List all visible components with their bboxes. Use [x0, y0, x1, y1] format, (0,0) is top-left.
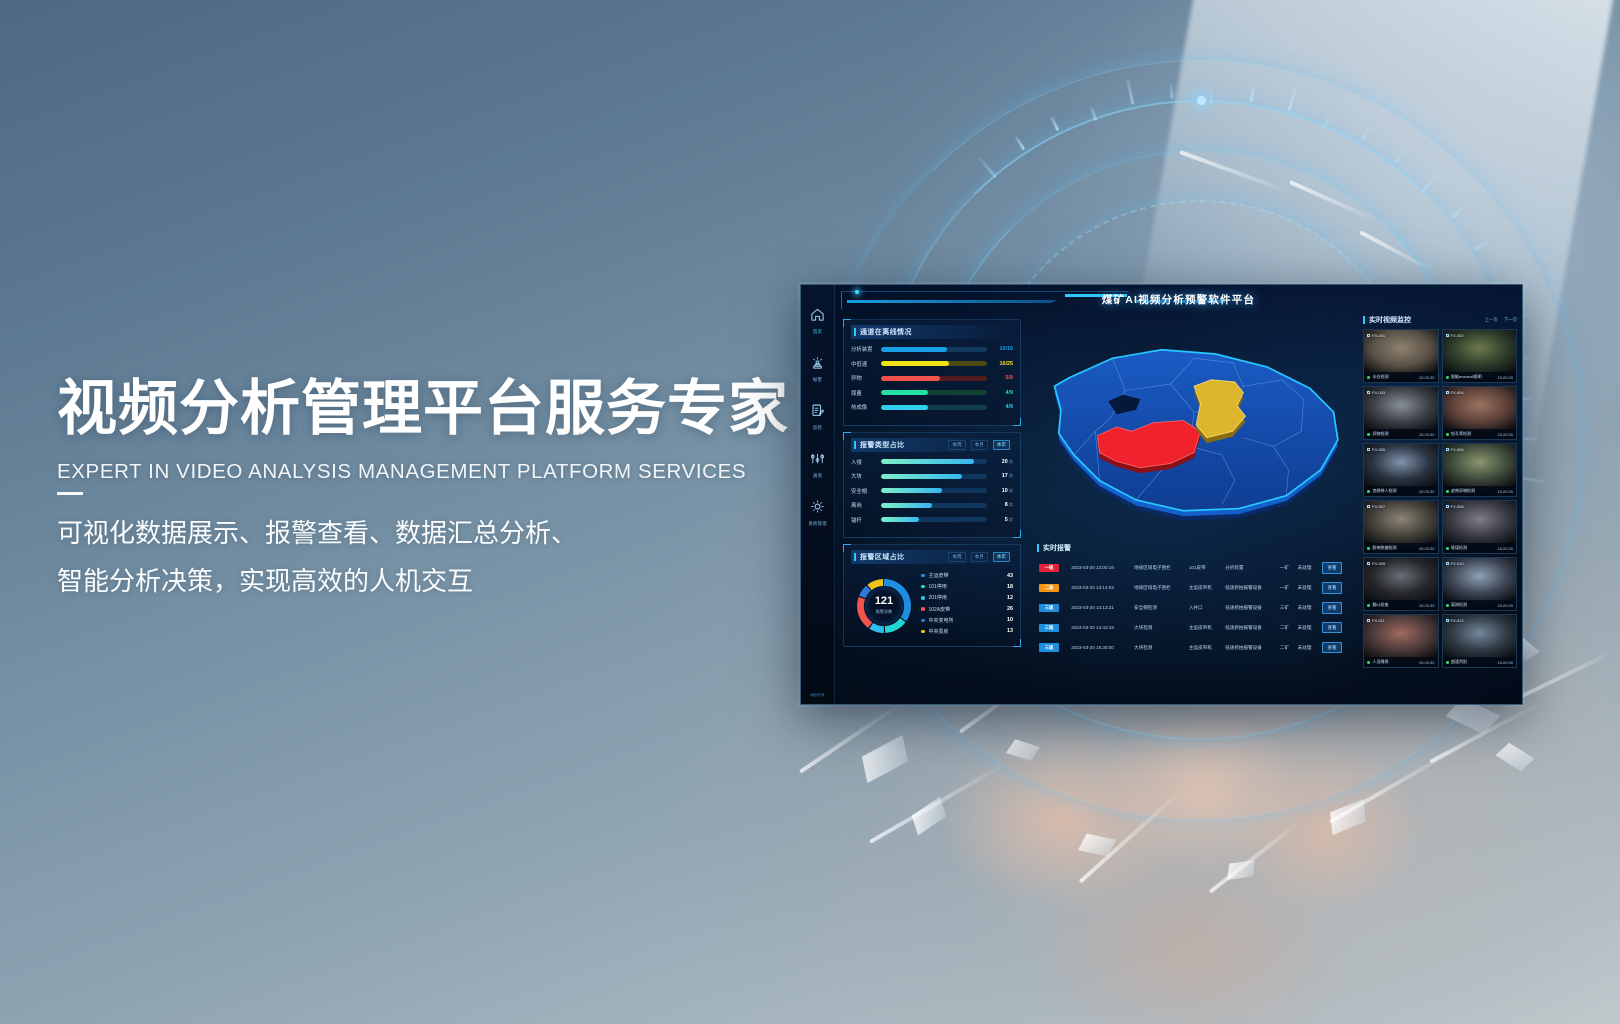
decorative-shard: [1078, 834, 1116, 857]
sidebar-item-label: 通道: [813, 473, 822, 479]
cell-level: 一级: [1037, 558, 1069, 578]
decorative-shard: [1330, 799, 1366, 835]
camera-name: 智能ической照明: [1446, 374, 1482, 380]
online-indicator: [1367, 661, 1370, 664]
row-value: 5/9: [987, 375, 1013, 381]
view-button[interactable]: 查看: [1322, 602, 1343, 613]
table-row: 一级2023-03-20 13:00:16地磅区域电子围栏101皮带分析装置一矿…: [1037, 558, 1353, 578]
decorative-streak: [1329, 745, 1461, 823]
cell-mine: 二矿: [1278, 638, 1296, 658]
prev-page-button[interactable]: 上一页: [1485, 317, 1498, 323]
video-caption: 离岗检测15:20:30: [1443, 600, 1517, 610]
decorative-streak: [1179, 150, 1284, 191]
video-tile[interactable]: FX-002智能ической照明15:20:30: [1442, 329, 1518, 383]
cell-type: 地磅区域电子围栏: [1132, 558, 1187, 578]
cell-level: 三级: [1037, 598, 1069, 618]
cell-time: 2023-03-20 13:14:03: [1069, 578, 1132, 598]
row-label: 煤量: [851, 389, 881, 397]
progress-track: [881, 347, 987, 352]
video-caption: 异物检测15:20:30: [1364, 429, 1438, 439]
row-label: 安全帽: [851, 487, 881, 495]
donut-legend: 主运皮带43101停用18201停用12102A皮带26中央变电所10中央泵房1…: [921, 572, 1013, 639]
online-indicator: [1367, 490, 1370, 493]
row-value: 10次: [987, 488, 1013, 494]
cell-status: 未处理: [1296, 618, 1320, 638]
decorative-shard: [1006, 739, 1040, 761]
video-panel-title: 实时视频监控: [1369, 315, 1411, 325]
progress-fill: [881, 361, 949, 366]
progress-fill: [881, 405, 928, 410]
cell-area: 入井口: [1187, 598, 1223, 618]
progress-track: [881, 488, 987, 493]
hero-desc-line-2: 智能分析决策，实现高效的人机交互: [57, 557, 817, 605]
cell-action: 查看: [1320, 598, 1353, 618]
camera-icon: [1446, 448, 1449, 451]
ring-tick: [1169, 84, 1173, 99]
online-indicator: [1446, 661, 1449, 664]
video-tile[interactable]: FX-010离岗检测15:20:30: [1442, 557, 1518, 611]
panel-header: 报警区域占比 本周本月本年: [851, 550, 1013, 564]
dashboard-title: 煤矿AI视频分析预警软件平台: [835, 292, 1522, 307]
row-label: 大块: [851, 472, 881, 480]
row-value: 8次: [987, 502, 1013, 508]
row-label: 离岗: [851, 501, 881, 509]
progress-track: [881, 517, 987, 522]
row-unit: 次: [1009, 517, 1013, 522]
online-indicator: [1446, 604, 1449, 607]
alarm-table: 一级2023-03-20 13:00:16地磅区域电子围栏101皮带分析装置一矿…: [1037, 558, 1353, 658]
camera-id: FX-009: [1367, 561, 1385, 566]
camera-icon: [1446, 391, 1449, 394]
cell-level: 三级: [1037, 618, 1069, 638]
camera-name: 离岗检测: [1446, 602, 1468, 608]
map-svg: [1033, 313, 1355, 541]
legend-color-dot: [921, 585, 925, 589]
decorative-shard: [912, 797, 947, 836]
sidebar-item-4[interactable]: 系统管理: [801, 499, 834, 527]
alarm-icon: [810, 355, 825, 375]
camera-name: 水仓检测: [1367, 374, 1389, 380]
cell-status: 未处理: [1296, 598, 1320, 618]
online-indicator: [1446, 490, 1449, 493]
camera-time: 15:20:30: [1419, 603, 1435, 608]
home-icon: [810, 307, 825, 327]
dashboard-screen: 首页报警巡检通道系统管理 版权所有 煤矿AI视频分析预警软件平台 通道在离线情况…: [801, 285, 1522, 704]
status-badge: 三级: [1039, 643, 1059, 652]
legend-color-dot: [921, 607, 925, 611]
alarm-table-title: 实时报警: [1043, 543, 1071, 553]
channel-status-row: 分析装置10/16: [851, 345, 1013, 353]
legend-label: 101停用: [929, 583, 1008, 590]
sidebar-item-1[interactable]: 报警: [801, 355, 834, 383]
donut-legend-item: 中央泵房13: [921, 628, 1013, 635]
alarm-type-row: 安全帽10次: [851, 487, 1013, 495]
next-page-button[interactable]: 下一页: [1504, 317, 1517, 323]
row-value: 16/25: [987, 361, 1013, 367]
legend-value: 26: [1007, 606, 1013, 612]
ring-tick: [1050, 116, 1059, 131]
channel-status-row: 异物5/9: [851, 374, 1013, 382]
row-unit: 次: [1009, 473, 1013, 478]
hero-subtitle-en: EXPERT IN VIDEO ANALYSIS MANAGEMENT PLAT…: [57, 460, 817, 484]
tab-本周[interactable]: 本周: [948, 440, 965, 450]
legend-value: 43: [1007, 573, 1013, 579]
row-value: 17次: [987, 473, 1013, 479]
title-accent-bar: [1363, 316, 1365, 324]
ring-tick: [978, 157, 997, 179]
decorative-shard: [1227, 860, 1255, 880]
video-caption: 超速判别15:20:30: [1443, 657, 1517, 667]
cell-level: 二级: [1037, 578, 1069, 598]
video-panel-header: 实时视频监控 上一页 下一页: [1363, 315, 1517, 325]
camera-name: 胶带跑偏检测: [1367, 545, 1397, 551]
ring-tick: [1249, 86, 1254, 101]
progress-fill: [881, 474, 962, 479]
legend-value: 10: [1007, 617, 1013, 623]
center-column: 实时报警 一级2023-03-20 13:00:16地磅区域电子围栏101皮带分…: [1027, 285, 1359, 704]
sidebar-item-2[interactable]: 巡检: [801, 403, 834, 431]
video-caption: 钻孔等检测15:20:30: [1443, 429, 1517, 439]
video-caption: 水仓检测15:20:30: [1364, 372, 1438, 382]
cell-time: 2023-03-20 13:00:16: [1069, 558, 1132, 578]
donut-legend-item: 101停用18: [921, 583, 1013, 590]
hero-copy: 视频分析管理平台服务专家 EXPERT IN VIDEO ANALYSIS MA…: [57, 375, 817, 605]
online-indicator: [1446, 376, 1449, 379]
alarm-type-tab-group[interactable]: 本周本月本年: [948, 440, 1010, 450]
title-accent-bar: [854, 441, 856, 449]
cell-time: 2023-03-20 14:13:21: [1069, 598, 1132, 618]
camera-id: FX-001: [1367, 333, 1385, 338]
video-tile[interactable]: FX-006皮带异物检测15:20:30: [1442, 443, 1518, 497]
camera-time: 15:20:30: [1497, 489, 1513, 494]
row-label: 异物: [851, 374, 881, 382]
dashboard-header: 煤矿AI视频分析预警软件平台: [835, 285, 1522, 315]
row-label: 锚杆: [851, 516, 881, 524]
cell-type: 大块检测: [1132, 638, 1187, 658]
alarm-area-donut-chart: 121 报警次数: [853, 575, 915, 637]
camera-name: 翻斗检查: [1367, 602, 1389, 608]
cell-status: 未处理: [1296, 638, 1320, 658]
decorative-streak: [1429, 704, 1537, 764]
decorative-shard: [1495, 743, 1534, 771]
camera-id: FX-007: [1367, 504, 1385, 509]
camera-id: FX-005: [1367, 447, 1385, 452]
cell-action: 查看: [1320, 558, 1353, 578]
sidebar-item-0[interactable]: 首页: [801, 307, 834, 335]
tab-本月[interactable]: 本月: [971, 440, 988, 450]
row-value: 5次: [987, 517, 1013, 523]
channel-status-row: 中低速16/25: [851, 360, 1013, 368]
legend-value: 13: [1007, 628, 1013, 634]
camera-name: 超速判别: [1446, 659, 1468, 665]
progress-track: [881, 503, 987, 508]
panel-header: 通道在离线情况: [851, 325, 1013, 339]
legend-label: 主运皮带: [929, 572, 1008, 579]
alarm-type-row: 入侵20次: [851, 458, 1013, 466]
video-caption: 违规带人检测15:20:30: [1364, 486, 1438, 496]
cell-time: 2023-03-20 14:43:18: [1069, 618, 1132, 638]
sidebar-item-3[interactable]: 通道: [801, 451, 834, 479]
camera-icon: [1446, 334, 1449, 337]
panel-title: 通道在离线情况: [860, 327, 912, 337]
cell-action: 查看: [1320, 618, 1353, 638]
camera-id: FX-006: [1446, 447, 1464, 452]
ring-tick: [1210, 89, 1214, 104]
gear-icon: [810, 499, 825, 519]
decorative-streak: [1289, 180, 1373, 220]
ring-tick: [1323, 114, 1332, 129]
sidebar-item-label: 首页: [813, 329, 822, 335]
row-value: 20次: [987, 459, 1013, 465]
row-value: 10/16: [987, 346, 1013, 352]
video-tile[interactable]: FX-009翻斗检查15:20:30: [1363, 557, 1439, 611]
video-caption: 皮带异物检测15:20:30: [1443, 486, 1517, 496]
camera-name: 钻孔等检测: [1446, 431, 1472, 437]
cell-device: 低速抓拍报警设备: [1223, 578, 1278, 598]
video-panel: 实时视频监控 上一页 下一页 FX-001水仓检测15:20:30FX-002智…: [1359, 285, 1522, 704]
camera-id: FX-011: [1367, 618, 1385, 623]
tab-本年[interactable]: 本年: [993, 552, 1010, 562]
online-indicator: [1367, 604, 1370, 607]
panel-header: 报警类型占比 本周本月本年: [851, 438, 1013, 452]
status-badge: 三级: [1039, 604, 1059, 613]
table-row: 三级2023-03-20 14:43:18大块检测主运皮带机低速抓拍报警设备二矿…: [1037, 618, 1353, 638]
progress-track: [881, 376, 987, 381]
alarm-area-tab-group[interactable]: 本周本月本年: [948, 552, 1010, 562]
panel-channel-status: 通道在离线情况 分析装置10/16中低速16/25异物5/9煤量4/9热成像4/…: [843, 319, 1021, 426]
donut-legend-item: 主运皮带43: [921, 572, 1013, 579]
camera-id: FX-012: [1446, 618, 1464, 623]
online-indicator: [1446, 547, 1449, 550]
title-accent-bar: [854, 553, 856, 561]
legend-label: 102A皮带: [929, 606, 1008, 613]
camera-id: FX-008: [1446, 504, 1464, 509]
donut-legend-item: 201停用12: [921, 594, 1013, 601]
legend-color-dot: [921, 596, 925, 600]
row-label: 中低速: [851, 360, 881, 368]
ring-tick: [1288, 85, 1298, 111]
decorative-streak: [1509, 652, 1610, 704]
decorative-streak: [1209, 823, 1298, 894]
video-tile[interactable]: FX-003异物检测15:20:30: [1363, 386, 1439, 440]
legend-value: 18: [1007, 584, 1013, 590]
cell-status: 未处理: [1296, 578, 1320, 598]
row-unit: 次: [1009, 488, 1013, 493]
status-badge: 一级: [1039, 564, 1059, 573]
donut-legend-item: 中央变电所10: [921, 617, 1013, 624]
ring-tick: [1126, 79, 1134, 105]
progress-track: [881, 361, 987, 366]
progress-fill: [881, 488, 942, 493]
channel-status-row: 热成像4/9: [851, 403, 1013, 411]
decorative-streak: [1359, 230, 1432, 271]
cell-level: 三级: [1037, 638, 1069, 658]
progress-fill: [881, 347, 947, 352]
tab-本年[interactable]: 本年: [993, 440, 1010, 450]
sidebar-footer: 版权所有: [801, 693, 834, 698]
progress-track: [881, 474, 987, 479]
status-badge: 二级: [1039, 584, 1059, 593]
camera-time: 15:20:30: [1497, 603, 1513, 608]
row-value: 4/9: [987, 390, 1013, 396]
cell-mine: 二矿: [1278, 618, 1296, 638]
cell-area: 101皮带: [1187, 558, 1223, 578]
tab-本周[interactable]: 本周: [948, 552, 965, 562]
row-value: 4/9: [987, 404, 1013, 410]
status-badge: 三级: [1039, 624, 1059, 633]
table-row: 二级2023-03-20 13:14:03地磅区域电子围栏主运皮带机低速抓拍报警…: [1037, 578, 1353, 598]
online-indicator: [1367, 433, 1370, 436]
video-tile[interactable]: FX-008堆煤检测15:20:30: [1442, 500, 1518, 554]
video-tile[interactable]: FX-004钻孔等检测15:20:30: [1442, 386, 1518, 440]
alarm-table-header: 实时报警: [1037, 543, 1353, 553]
legend-color-dot: [921, 630, 925, 634]
alarm-type-row: 离岗8次: [851, 501, 1013, 509]
camera-time: 15:20:30: [1497, 546, 1513, 551]
online-indicator: [1367, 376, 1370, 379]
camera-icon: [1367, 505, 1370, 508]
legend-label: 中央变电所: [929, 617, 1008, 624]
cell-area: 主运皮带机: [1187, 618, 1223, 638]
panel-alarm-type: 报警类型占比 本周本月本年 入侵20次大块17次安全帽10次离岗8次锚杆5次: [843, 432, 1021, 539]
video-tile[interactable]: FX-011人员睡岗15:20:30: [1363, 614, 1439, 668]
region-map[interactable]: [1033, 313, 1355, 541]
table-row: 三级2023-03-20 15:30:00大块检测主运皮带机低速抓拍报警设备二矿…: [1037, 638, 1353, 658]
camera-time: 15:20:30: [1419, 660, 1435, 665]
video-caption: 翻斗检查15:20:30: [1364, 600, 1438, 610]
camera-icon: [1446, 619, 1449, 622]
progress-track: [881, 459, 987, 464]
row-label: 热成像: [851, 403, 881, 411]
ring-tick: [1361, 127, 1371, 141]
row-label: 入侵: [851, 458, 881, 466]
hero-divider: [57, 492, 83, 495]
ring-tick: [1394, 150, 1405, 164]
row-unit: 次: [1009, 502, 1013, 507]
legend-label: 中央泵房: [929, 628, 1008, 635]
progress-fill: [881, 390, 928, 395]
camera-time: 15:20:30: [1419, 546, 1435, 551]
progress-fill: [881, 503, 932, 508]
camera-name: 违规带人检测: [1367, 488, 1397, 494]
camera-name: 人员睡岗: [1367, 659, 1389, 665]
video-caption: 智能ической照明15:20:30: [1443, 372, 1517, 382]
cell-device: 低速抓拍报警设备: [1223, 618, 1278, 638]
cell-device: 低速抓拍报警设备: [1223, 598, 1278, 618]
legend-value: 12: [1007, 595, 1013, 601]
ring-tick: [1451, 207, 1465, 219]
decorative-shard: [862, 735, 908, 783]
progress-fill: [881, 517, 919, 522]
video-caption: 人员睡岗15:20:30: [1364, 657, 1438, 667]
camera-time: 15:20:30: [1497, 660, 1513, 665]
camera-name: 异物检测: [1367, 431, 1389, 437]
progress-fill: [881, 376, 940, 381]
sidebar: 首页报警巡检通道系统管理 版权所有: [801, 285, 835, 704]
video-tile[interactable]: FX-012超速判别15:20:30: [1442, 614, 1518, 668]
camera-icon: [1367, 448, 1370, 451]
decorative-streak: [1079, 794, 1178, 884]
decorative-streak: [799, 703, 901, 773]
cell-mine: 三矿: [1278, 598, 1296, 618]
legend-label: 201停用: [929, 594, 1008, 601]
legend-color-dot: [921, 619, 925, 623]
progress-track: [881, 390, 987, 395]
row-label: 分析装置: [851, 345, 881, 353]
camera-icon: [1367, 334, 1370, 337]
video-grid: FX-001水仓检测15:20:30FX-002智能ической照明15:20…: [1363, 329, 1517, 668]
camera-time: 15:20:30: [1419, 489, 1435, 494]
donut-total: 121: [875, 596, 893, 607]
donut-legend-item: 102A皮带26: [921, 606, 1013, 613]
view-button[interactable]: 查看: [1322, 582, 1343, 593]
tab-本月[interactable]: 本月: [971, 552, 988, 562]
cell-mine: 一矿: [1278, 558, 1296, 578]
progress-fill: [881, 459, 974, 464]
camera-id: FX-004: [1446, 390, 1464, 395]
donut-caption: 报警次数: [876, 609, 893, 615]
video-tile[interactable]: FX-001水仓检测15:20:30: [1363, 329, 1439, 383]
cell-action: 查看: [1320, 638, 1353, 658]
sidebar-item-label: 巡检: [813, 425, 822, 431]
video-tile[interactable]: FX-005违规带人检测15:20:30: [1363, 443, 1439, 497]
channel-status-row: 煤量4/9: [851, 389, 1013, 397]
cell-device: 低速抓拍报警设备: [1223, 638, 1278, 658]
ring-tick: [1014, 136, 1025, 150]
camera-id: FX-010: [1446, 561, 1464, 566]
view-button[interactable]: 查看: [1322, 622, 1343, 633]
camera-name: 皮带异物检测: [1446, 488, 1476, 494]
view-button[interactable]: 查看: [1322, 642, 1343, 653]
panel-alarm-area: 报警区域占比 本周本月本年 121 报警次数 主运皮带43101停用18201停…: [843, 544, 1021, 647]
ring-glow-dot: [1197, 96, 1206, 105]
ring-tick: [1090, 106, 1098, 121]
online-indicator: [1367, 547, 1370, 550]
donut-center: 121 报警次数: [865, 587, 903, 625]
dashboard-monitor: 首页报警巡检通道系统管理 版权所有 煤矿AI视频分析预警软件平台 通道在离线情况…: [800, 284, 1523, 705]
camera-time: 15:20:30: [1497, 432, 1513, 437]
camera-id: FX-002: [1446, 333, 1464, 338]
alarm-type-row: 锚杆5次: [851, 516, 1013, 524]
cell-mine: 一矿: [1278, 578, 1296, 598]
cell-time: 2023-03-20 15:30:00: [1069, 638, 1132, 658]
camera-time: 15:20:30: [1497, 375, 1513, 380]
camera-icon: [1367, 619, 1370, 622]
hero-desc-line-1: 可视化数据展示、报警查看、数据汇总分析、: [57, 509, 817, 557]
camera-name: 堆煤检测: [1446, 545, 1468, 551]
camera-icon: [1446, 505, 1449, 508]
video-caption: 胶带跑偏检测15:20:30: [1364, 543, 1438, 553]
table-row: 三级2023-03-20 14:13:21安全帽检测入井口低速抓拍报警设备三矿未…: [1037, 598, 1353, 618]
alarm-type-row: 大块17次: [851, 472, 1013, 480]
camera-time: 15:20:30: [1419, 432, 1435, 437]
camera-time: 15:20:30: [1419, 375, 1435, 380]
camera-icon: [1367, 391, 1370, 394]
ring-tick: [1420, 173, 1440, 194]
view-button[interactable]: 查看: [1322, 562, 1343, 573]
video-tile[interactable]: FX-007胶带跑偏检测15:20:30: [1363, 500, 1439, 554]
page-title: 视频分析管理平台服务专家: [57, 375, 817, 442]
cell-type: 安全帽检测: [1132, 598, 1187, 618]
camera-icon: [1367, 562, 1370, 565]
cell-type: 地磅区域电子围栏: [1132, 578, 1187, 598]
row-unit: 次: [1009, 459, 1013, 464]
video-caption: 堆煤检测15:20:30: [1443, 543, 1517, 553]
left-panel-column: 通道在离线情况 分析装置10/16中低速16/25异物5/9煤量4/9热成像4/…: [835, 285, 1027, 704]
channel-icon: [810, 451, 825, 471]
sidebar-item-label: 系统管理: [808, 521, 826, 527]
inspection-icon: [810, 403, 825, 423]
